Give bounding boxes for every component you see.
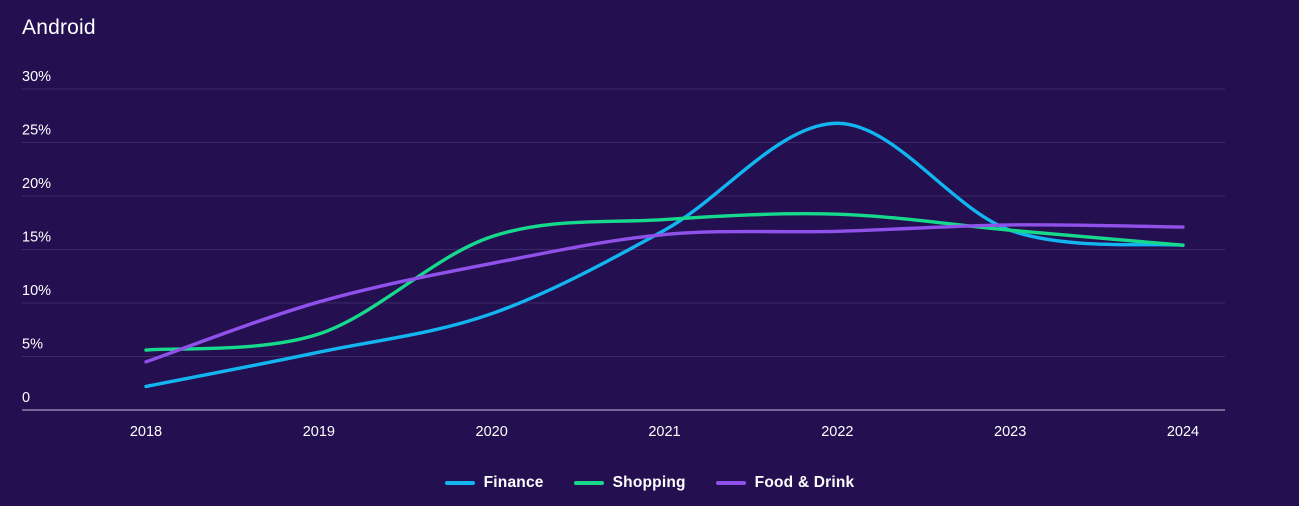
x-tick-label: 2020 [476, 424, 508, 440]
y-tick-label: 30% [22, 69, 51, 85]
x-tick-label: 2019 [303, 424, 335, 440]
y-tick-label: 5% [22, 337, 43, 353]
x-tick-label: 2024 [1167, 424, 1199, 440]
legend-swatch-icon [445, 481, 475, 485]
legend-label: Finance [484, 474, 544, 492]
y-axis-tick-labels: 05%10%15%20%25%30% [22, 69, 51, 406]
plot-area: 05%10%15%20%25%30% 201820192020202120222… [0, 0, 1299, 460]
line-chart-svg: 05%10%15%20%25%30% 201820192020202120222… [0, 0, 1299, 460]
x-axis-tick-labels: 2018201920202021202220232024 [130, 424, 1199, 440]
x-tick-label: 2018 [130, 424, 162, 440]
legend-item-food-drink[interactable]: Food & Drink [716, 474, 855, 492]
x-tick-label: 2023 [994, 424, 1026, 440]
y-tick-label: 25% [22, 123, 51, 139]
series-line-food-drink [146, 225, 1183, 362]
y-tick-label: 20% [22, 176, 51, 192]
legend-label: Food & Drink [755, 474, 855, 492]
x-tick-label: 2022 [821, 424, 853, 440]
legend-item-finance[interactable]: Finance [445, 474, 544, 492]
legend-swatch-icon [574, 481, 604, 485]
y-tick-label: 10% [22, 283, 51, 299]
chart-card: Android 05%10%15%20%25%30% 2018201920202… [0, 0, 1299, 506]
series-line-finance [146, 123, 1183, 386]
legend-item-shopping[interactable]: Shopping [574, 474, 686, 492]
series-lines [146, 123, 1183, 386]
chart-legend: FinanceShoppingFood & Drink [0, 460, 1299, 506]
y-tick-label: 15% [22, 230, 51, 246]
y-tick-label: 0 [22, 390, 30, 406]
x-tick-label: 2021 [648, 424, 680, 440]
legend-label: Shopping [613, 474, 686, 492]
legend-swatch-icon [716, 481, 746, 485]
